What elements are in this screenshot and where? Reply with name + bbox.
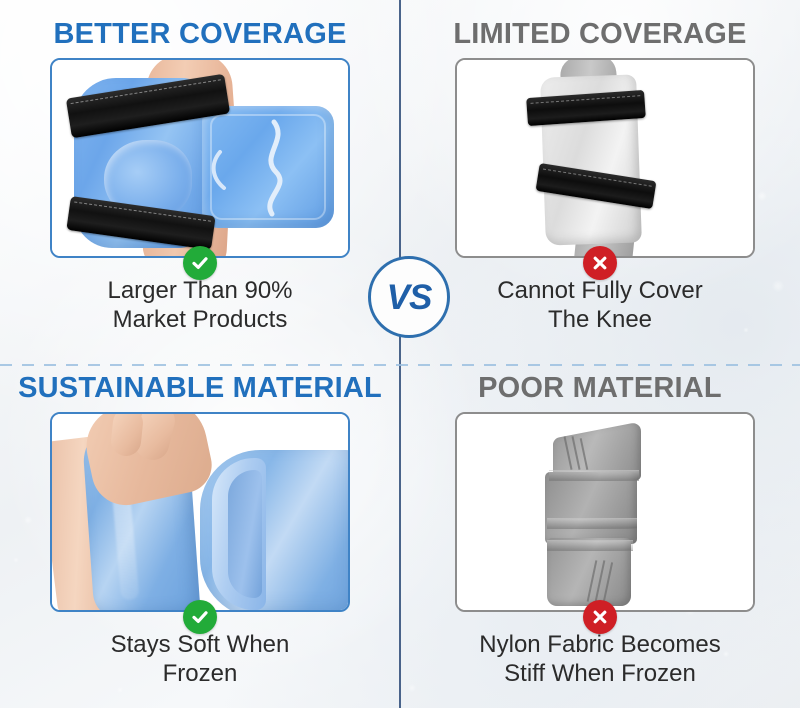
product-image-card-poor-material — [455, 412, 755, 612]
caption-sustainable-material: Stays Soft When Frozen — [12, 630, 388, 688]
horizontal-divider — [0, 364, 800, 366]
caption-line: Larger Than 90% — [12, 276, 388, 305]
caption-poor-material: Nylon Fabric Becomes Stiff When Frozen — [412, 630, 788, 688]
caption-line: Frozen — [12, 659, 388, 688]
caption-limited-coverage: Cannot Fully Cover The Knee — [412, 276, 788, 334]
quadrant-heading-limited-coverage: LIMITED COVERAGE — [400, 18, 800, 50]
product-image-card-sustainable-material — [50, 412, 350, 612]
caption-line: Cannot Fully Cover — [412, 276, 788, 305]
soft-gel-squeeze-image — [52, 414, 348, 610]
brace-band — [547, 540, 633, 551]
caption-line: The Knee — [412, 305, 788, 334]
quadrant-top-right: LIMITED COVERAGE Cannot Fully Cover The … — [400, 0, 800, 354]
quadrant-heading-poor-material: POOR MATERIAL — [400, 372, 800, 404]
vertical-divider — [399, 0, 401, 708]
caption-line: Stays Soft When — [12, 630, 388, 659]
vs-badge: VS — [368, 256, 450, 338]
brace-band — [547, 518, 637, 529]
gel-closeup-edge-shape — [228, 470, 262, 598]
caption-better-coverage: Larger Than 90% Market Products — [12, 276, 388, 334]
blue-gel-knee-wrap-image — [52, 60, 348, 256]
product-image-card-better-coverage — [50, 58, 350, 258]
caption-line: Nylon Fabric Becomes — [412, 630, 788, 659]
gray-knee-wrap-image — [457, 60, 753, 256]
vs-label: VS — [387, 280, 432, 315]
caption-line: Stiff When Frozen — [412, 659, 788, 688]
quadrant-top-left: BETTER COVERAGE — [0, 0, 400, 354]
quadrant-bottom-right: POOR MATERIAL — [400, 354, 800, 708]
check-badge-icon — [183, 246, 217, 280]
stiff-nylon-brace-image — [457, 414, 753, 610]
gel-pad-squiggle-icon — [202, 106, 334, 228]
check-badge-icon — [183, 600, 217, 634]
quadrant-heading-sustainable-material: SUSTAINABLE MATERIAL — [0, 372, 400, 404]
quadrant-bottom-left: SUSTAINABLE MATERIAL Stays Soft When — [0, 354, 400, 708]
quadrant-heading-better-coverage: BETTER COVERAGE — [0, 18, 400, 50]
brace-middle-section — [545, 472, 637, 544]
caption-line: Market Products — [12, 305, 388, 334]
product-image-card-limited-coverage — [455, 58, 755, 258]
comparison-infographic: BETTER COVERAGE — [0, 0, 800, 708]
cross-badge-icon — [583, 600, 617, 634]
brace-band — [549, 470, 639, 481]
cross-badge-icon — [583, 246, 617, 280]
